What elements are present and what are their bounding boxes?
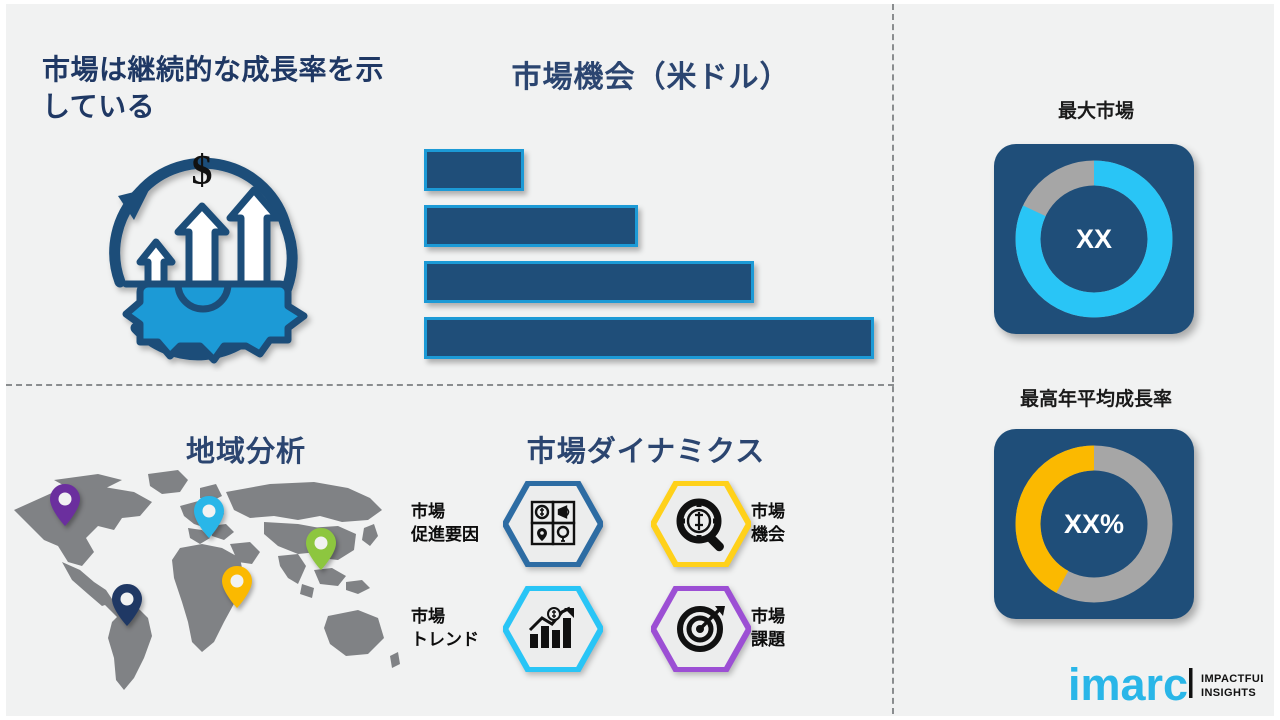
imarc-logo: imarc IMPACTFUL INSIGHTS xyxy=(1068,660,1263,708)
dynamics-item-opportunities[interactable]: 市場 機会 xyxy=(651,484,843,564)
magnifier-dollar-icon xyxy=(651,481,751,567)
dynamics-item-challenges[interactable]: 市場 課題 xyxy=(651,589,843,669)
map-pin-south-america xyxy=(112,584,142,626)
puzzle-pieces-icon xyxy=(503,481,603,567)
bar-3 xyxy=(424,261,754,303)
regional-analysis-heading: 地域分析 xyxy=(126,428,366,470)
dynamics-label-drivers: 市場 促進要因 xyxy=(411,501,503,547)
map-pin-middle-east xyxy=(222,566,252,608)
market-opportunity-heading: 市場機会（米ドル） xyxy=(436,52,866,96)
world-map xyxy=(2,466,402,698)
logo-tagline-line2: INSIGHTS xyxy=(1201,687,1256,699)
infographic-slide: 市場は継続的な成長率を示している xyxy=(0,0,1280,720)
dynamics-item-trends[interactable]: 市場 トレンド xyxy=(411,589,603,669)
map-pin-europe xyxy=(194,496,224,538)
dynamics-label-opportunities: 市場 機会 xyxy=(751,501,843,547)
map-pin-north-america xyxy=(50,484,80,526)
dynamics-item-drivers[interactable]: 市場 促進要因 xyxy=(411,484,603,564)
highest-cagr-heading: 最高年平均成長率 xyxy=(956,384,1236,411)
dynamics-label-trends: 市場 トレンド xyxy=(411,606,503,652)
largest-market-donut-card: XX xyxy=(994,144,1194,334)
bar-2 xyxy=(424,205,638,247)
dollar-symbol: $ xyxy=(192,148,213,194)
growth-heading: 市場は継続的な成長率を示している xyxy=(42,52,392,126)
bar-1 xyxy=(424,149,524,191)
largest-market-heading: 最大市場 xyxy=(956,96,1236,123)
growth-cycle-gear-icon: $ xyxy=(78,132,328,372)
market-dynamics-grid: 市場 促進要因 xyxy=(411,484,861,674)
logo-wordmark: imarc xyxy=(1068,660,1188,708)
market-opportunity-bar-chart xyxy=(424,149,884,349)
highest-cagr-donut-card: XX% xyxy=(994,429,1194,619)
bar-chart-growth-icon xyxy=(503,586,603,672)
dynamics-label-challenges: 市場 課題 xyxy=(751,606,843,652)
target-dart-icon xyxy=(651,586,751,672)
logo-tagline-line1: IMPACTFUL xyxy=(1201,673,1263,685)
market-dynamics-heading: 市場ダイナミクス xyxy=(436,428,856,470)
bar-4 xyxy=(424,317,874,359)
vertical-divider xyxy=(892,4,894,720)
map-pin-east-asia xyxy=(306,528,336,570)
horizontal-divider xyxy=(6,384,894,386)
